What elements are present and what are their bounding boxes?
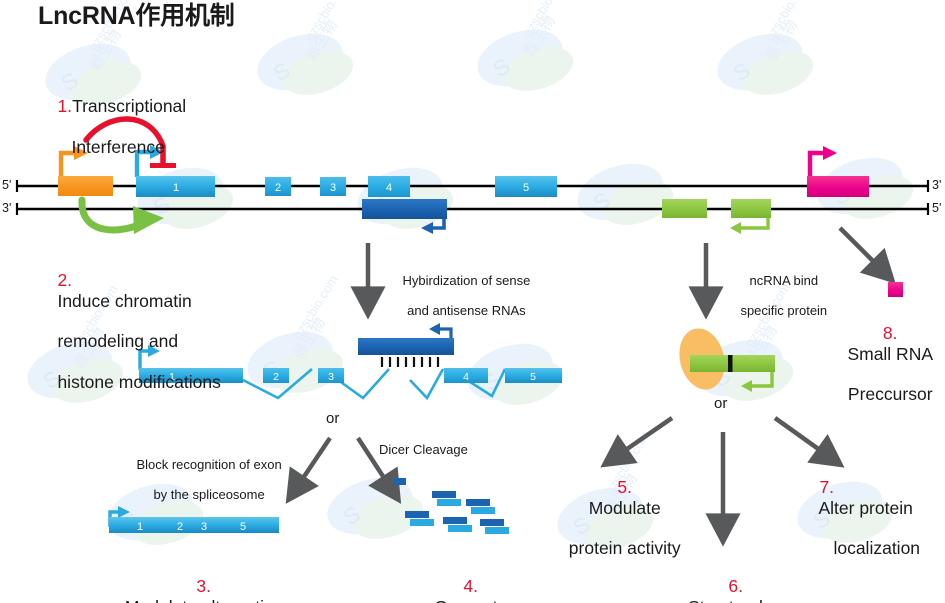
step-7-number: 7.: [819, 477, 834, 497]
genomic-exon-numbers: 1 2 3 4 5: [173, 182, 529, 194]
step-2-label: 2. Induce chromatin remodeling and histo…: [38, 250, 221, 412]
block-recognition-annotation: Block recognition of exon by the spliceo…: [122, 442, 282, 517]
genomic-exon-3: 3: [330, 182, 336, 194]
ncrna-bind-line2: specific protein: [740, 303, 827, 318]
step-2-line3: histone modifications: [57, 372, 220, 392]
hybridization-line1: Hybirdization of sense: [402, 273, 530, 288]
mature-exon-1: 1: [137, 521, 143, 533]
step-4-number: 4.: [463, 576, 478, 596]
mature-exon-3: 3: [201, 521, 207, 533]
step-3-line1: Modulate alternative: [125, 597, 283, 603]
step-4-label: 4. Generate endo-siRNAs: [390, 556, 532, 603]
step-2-line2: remodeling and: [57, 331, 178, 351]
premrna-exon-2: 2: [273, 371, 279, 383]
step-1-number: 1.: [57, 96, 72, 116]
step-6-label: 6. Structural or organizational role: [636, 556, 816, 603]
strand-label-3prime-right: 3': [932, 178, 941, 193]
step-3-label: 3. Modulate alternative splicing pattern…: [88, 556, 300, 603]
page-title: LncRNA作用机制: [38, 2, 235, 31]
step-8-label: 8. Small RNA Preccursor: [818, 303, 943, 425]
step-7-line2: localization: [833, 538, 920, 558]
mature-mrna-exon-numbers: 1 2 3 5: [137, 521, 246, 533]
step-7-label: 7. Alter protein localization: [800, 457, 920, 579]
premrna-exon-3: 3: [328, 371, 334, 383]
step-7-line1: Alter protein: [818, 498, 912, 518]
step-8-line2: Preccursor: [848, 384, 933, 404]
mature-exon-2: 2: [177, 521, 183, 533]
block-recognition-line1: Block recognition of exon: [136, 457, 281, 472]
diagram-canvas: S qzscbio.com 器生物: [0, 0, 945, 603]
step-6-line1: Structural or: [688, 597, 783, 603]
block-recognition-line2: by the spliceosome: [153, 487, 264, 502]
step-3-number: 3.: [196, 576, 211, 596]
step-5-line1: Modulate: [589, 498, 661, 518]
premrna-exon-5: 5: [530, 371, 536, 383]
step-1-label: 1.Transcriptional Interference: [38, 76, 186, 177]
or-label-left: or: [326, 410, 339, 427]
step-4-line1: Generate: [434, 597, 507, 603]
step-6-number: 6.: [728, 576, 743, 596]
hybridization-line2: and antisense RNAs: [407, 303, 526, 318]
genomic-exon-1: 1: [173, 182, 179, 194]
step-1-line2: Interference: [71, 137, 164, 157]
strand-label-5prime-right: 5': [932, 201, 941, 216]
ncrna-bind-line1: ncRNA bind: [749, 273, 818, 288]
step-8-line1: Small RNA: [847, 344, 933, 364]
step-8-number: 8.: [883, 323, 898, 343]
hybridization-annotation: Hybirdization of sense and antisense RNA…: [388, 258, 530, 333]
mature-exon-4: 5: [240, 521, 246, 533]
genomic-exon-4: 4: [386, 182, 392, 194]
step-5-number: 5.: [617, 477, 632, 497]
strand-label-3prime-left: 3': [2, 201, 11, 216]
genomic-exon-2: 2: [275, 182, 281, 194]
step-2-line1: Induce chromatin: [57, 291, 191, 311]
premrna-exon-numbers: 1 2 3 4 5: [169, 371, 536, 383]
premrna-exon-4: 4: [463, 371, 469, 383]
step-1-line1: Transcriptional: [72, 96, 186, 116]
dicer-cleavage-annotation: Dicer Cleavage: [379, 442, 468, 457]
ncrna-bind-annotation: ncRNA bind specific protein: [726, 258, 827, 333]
genomic-exon-5: 5: [523, 182, 529, 194]
strand-label-5prime-left: 5': [2, 178, 11, 193]
or-label-right: or: [714, 395, 727, 412]
step-2-number: 2.: [57, 270, 72, 290]
